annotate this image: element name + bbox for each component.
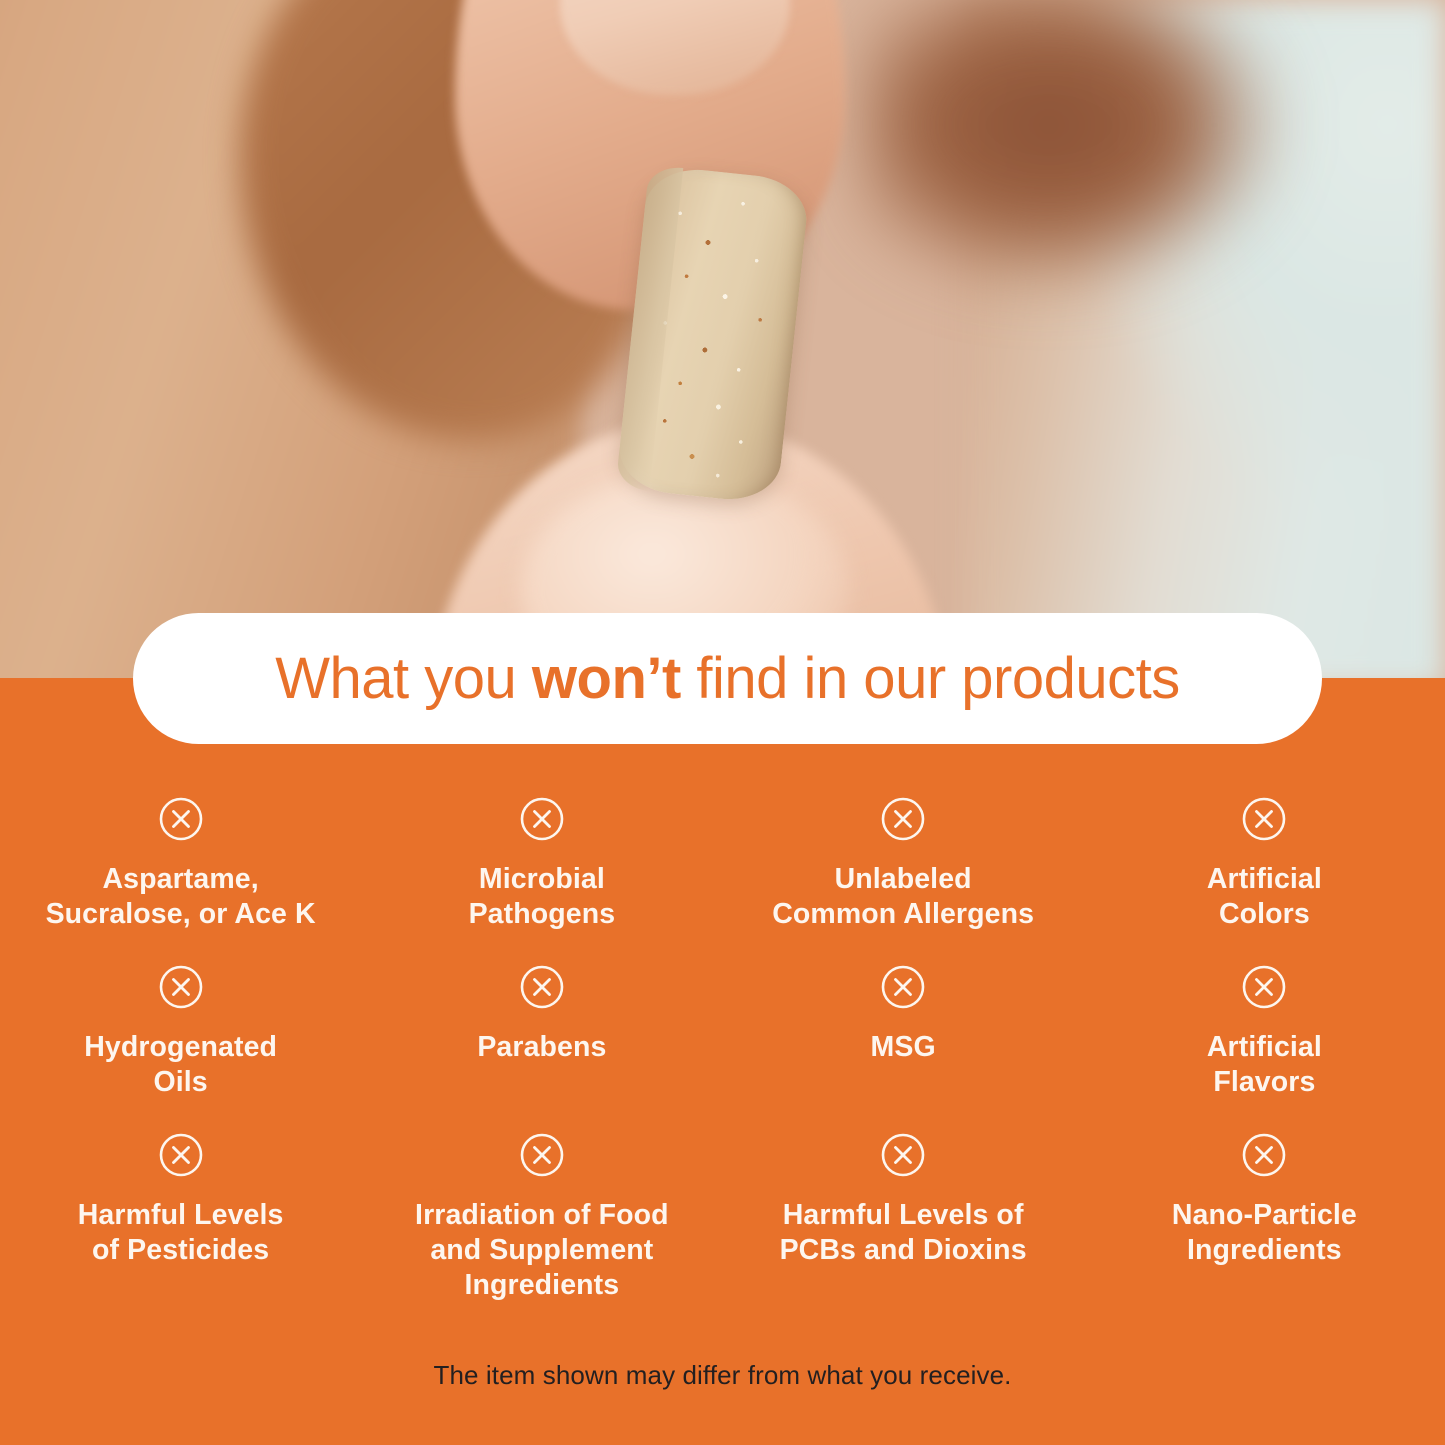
hero-photo xyxy=(0,0,1445,690)
exclusion-label: Artificial Colors xyxy=(1207,862,1322,932)
circle-x-icon xyxy=(880,796,926,842)
circle-x-icon xyxy=(158,1132,204,1178)
exclusions-grid: Aspartame, Sucralose, or Ace K Microbial… xyxy=(0,780,1445,1284)
page-title-emphasis: won’t xyxy=(532,646,681,711)
circle-x-icon xyxy=(519,796,565,842)
supplement-tablet xyxy=(615,164,810,504)
product-claims-graphic: What you won’t find in our products Aspa… xyxy=(0,0,1445,1445)
exclusion-label: Unlabeled Common Allergens xyxy=(772,862,1034,932)
exclusion-label: Microbial Pathogens xyxy=(469,862,616,932)
exclusion-label: Aspartame, Sucralose, or Ace K xyxy=(46,862,316,932)
circle-x-icon xyxy=(1241,964,1287,1010)
exclusion-label: Artificial Flavors xyxy=(1207,1030,1322,1100)
circle-x-icon xyxy=(880,1132,926,1178)
exclusion-item: Artificial Colors xyxy=(1084,780,1445,948)
exclusion-label: Hydrogenated Oils xyxy=(84,1030,277,1100)
circle-x-icon xyxy=(158,796,204,842)
exclusion-item: Harmful Levels of PCBs and Dioxins xyxy=(723,1116,1084,1284)
exclusion-label: MSG xyxy=(871,1030,936,1065)
circle-x-icon xyxy=(1241,1132,1287,1178)
page-title-after: find in our products xyxy=(681,646,1180,711)
exclusion-label: Irradiation of Food and Supplement Ingre… xyxy=(415,1198,669,1302)
exclusion-item: Harmful Levels of Pesticides xyxy=(0,1116,361,1284)
exclusion-item: Hydrogenated Oils xyxy=(0,948,361,1116)
exclusion-item: Parabens xyxy=(361,948,722,1116)
circle-x-icon xyxy=(158,964,204,1010)
circle-x-icon xyxy=(519,1132,565,1178)
exclusion-item: Artificial Flavors xyxy=(1084,948,1445,1116)
exclusion-label: Harmful Levels of PCBs and Dioxins xyxy=(780,1198,1027,1268)
exclusion-item: Irradiation of Food and Supplement Ingre… xyxy=(361,1116,722,1284)
exclusion-item: Unlabeled Common Allergens xyxy=(723,780,1084,948)
page-title-before: What you xyxy=(275,646,532,711)
headline-pill: What you won’t find in our products xyxy=(133,613,1322,744)
exclusion-label: Nano-Particle Ingredients xyxy=(1172,1198,1357,1268)
photo-background-shadow xyxy=(860,0,1280,290)
disclaimer-note: The item shown may differ from what you … xyxy=(0,1360,1445,1391)
exclusion-item: Nano-Particle Ingredients xyxy=(1084,1116,1445,1284)
circle-x-icon xyxy=(1241,796,1287,842)
exclusion-item: MSG xyxy=(723,948,1084,1116)
page-title: What you won’t find in our products xyxy=(275,650,1179,708)
exclusion-item: Microbial Pathogens xyxy=(361,780,722,948)
circle-x-icon xyxy=(880,964,926,1010)
exclusion-item: Aspartame, Sucralose, or Ace K xyxy=(0,780,361,948)
exclusion-label: Parabens xyxy=(477,1030,606,1065)
exclusion-label: Harmful Levels of Pesticides xyxy=(78,1198,284,1268)
circle-x-icon xyxy=(519,964,565,1010)
